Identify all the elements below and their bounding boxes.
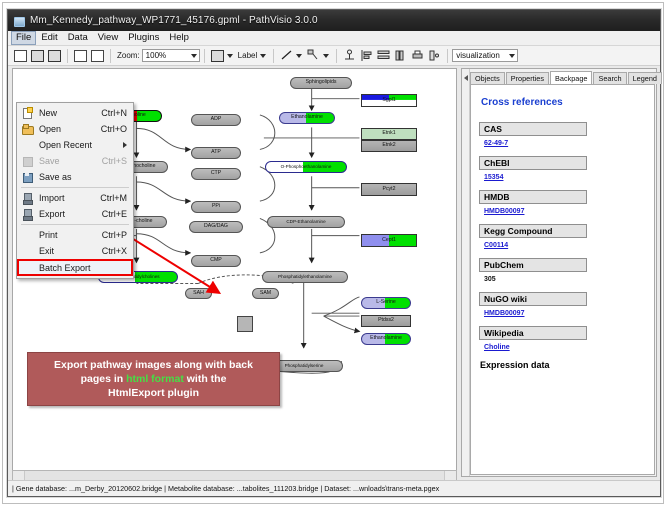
scroll-right-button[interactable] (444, 471, 456, 480)
menubar[interactable]: File Edit Data View Plugins Help (8, 31, 660, 46)
tab-legend[interactable]: Legend (628, 72, 662, 84)
callout-line-2-before: pages in (81, 373, 124, 385)
node-sam[interactable]: SAM (252, 288, 279, 299)
pathvisio-application-window: Mm_Kennedy_pathway_WP1771_45176.gpml - P… (7, 9, 661, 497)
callout-line-3: HtmlExport plugin (108, 387, 199, 399)
visualization-combobox[interactable]: visualization (452, 49, 518, 62)
gene-etnk2[interactable]: Etnk2 (361, 140, 417, 152)
xref-label-kegg: Kegg Compound (479, 224, 587, 238)
new-document-icon (21, 107, 33, 119)
window-titlebar: Mm_Kennedy_pathway_WP1771_45176.gpml - P… (8, 10, 660, 32)
datanode-icon[interactable] (211, 49, 224, 62)
node-ctp[interactable]: CTP (191, 168, 241, 180)
scroll-thumb[interactable] (25, 471, 444, 480)
menu-item-open-label: Open (39, 124, 61, 134)
visualization-value: visualization (456, 51, 500, 60)
menu-item-exit-label: Exit (39, 246, 54, 256)
node-cdp-ethanolamine[interactable]: CDP-Ethanolamine (267, 216, 345, 228)
save-file-icon[interactable] (48, 49, 61, 62)
print-icon[interactable] (411, 49, 424, 62)
menu-item-export[interactable]: Export Ctrl+E (17, 206, 133, 222)
toolbar-separator-5 (336, 49, 337, 63)
node-cmp[interactable]: CMP (191, 255, 241, 267)
node-l-serine[interactable]: L-Serine (361, 297, 411, 309)
gene-etnk1[interactable]: Etnk1 (361, 128, 417, 140)
menu-item-print[interactable]: Print Ctrl+P (17, 227, 133, 243)
toolbar[interactable]: Zoom: 100% Label (8, 46, 660, 66)
node-o-phosphoethanolamine[interactable]: O-Phosphoethanolamine (265, 161, 347, 173)
menu-item-batch-export[interactable]: Batch Export (17, 259, 133, 276)
toolbar-separator-1 (67, 49, 68, 63)
menu-item-export-accel: Ctrl+E (102, 209, 127, 219)
toolbar-separator-3 (204, 49, 205, 63)
menu-item-open[interactable]: Open Ctrl+O (17, 121, 133, 137)
undo-icon[interactable] (74, 49, 87, 62)
callout-line-1: Export pathway images along with back (54, 359, 253, 371)
chevron-down-icon (191, 54, 197, 58)
menu-item-open-recent-label: Open Recent (39, 140, 92, 150)
menu-view[interactable]: View (93, 31, 123, 45)
menu-item-export-label: Export (39, 209, 65, 219)
menu-item-import-accel: Ctrl+M (100, 193, 127, 203)
xref-cas: CAS 62-49-7 (479, 122, 646, 147)
pathway-anchor-block (237, 316, 253, 332)
node-sphingolipids[interactable]: Sphingolipids (290, 77, 352, 89)
node-dag[interactable]: DAG/DAG (189, 221, 243, 233)
menu-help[interactable]: Help (164, 31, 194, 45)
menu-item-new-label: New (39, 108, 57, 118)
anchor-icon[interactable] (343, 49, 356, 62)
line-dropdown-icon[interactable] (296, 54, 302, 58)
zoom-label: Zoom: (117, 51, 140, 60)
node-adp[interactable]: ADP (191, 114, 241, 126)
xref-nugo: NuGO wiki HMDB00097 (479, 292, 646, 317)
import-icon (21, 192, 33, 204)
menu-item-new[interactable]: New Ctrl+N (17, 105, 133, 121)
scroll-left-button[interactable] (13, 471, 25, 480)
interaction-dropdown-icon[interactable] (323, 54, 329, 58)
menu-item-new-accel: Ctrl+N (101, 108, 127, 118)
open-folder-icon (21, 123, 33, 135)
callout-line-2-highlight: html format (126, 373, 184, 385)
menu-item-exit-accel: Ctrl+X (102, 246, 127, 256)
tab-objects[interactable]: Objects (470, 72, 505, 84)
interaction-icon[interactable] (307, 49, 320, 62)
sidebar-panel: Objects Properties Backpage Search Legen… (461, 68, 657, 477)
chevron-down-icon (509, 54, 515, 58)
node-atp[interactable]: ATP (191, 147, 241, 159)
zoom-combobox[interactable]: 100% (142, 49, 200, 62)
sidebar-collapse-handle[interactable] (462, 69, 470, 476)
node-ppi[interactable]: PPi (191, 201, 241, 213)
new-file-icon[interactable] (14, 49, 27, 62)
xref-label-hmdb: HMDB (479, 190, 587, 204)
layer-icon[interactable] (428, 49, 441, 62)
save-as-icon (21, 171, 33, 183)
sidebar-tabs[interactable]: Objects Properties Backpage Search Legen… (470, 71, 655, 84)
zoom-value: 100% (146, 51, 166, 60)
window-title: Mm_Kennedy_pathway_WP1771_45176.gpml - P… (30, 15, 318, 26)
submenu-arrow-icon (123, 142, 127, 148)
line-icon[interactable] (280, 49, 293, 62)
main-content: Sphingolipids Choline ADP Ethanolamine A… (8, 66, 660, 480)
gene-ptdss2[interactable]: Ptdss2 (361, 315, 411, 327)
status-text: | Gene database: ...m_Derby_20120602.bri… (8, 484, 439, 493)
toolbar-separator-2 (110, 49, 111, 63)
menu-item-print-accel: Ctrl+P (102, 230, 127, 240)
export-icon (21, 208, 33, 220)
menu-item-save-as[interactable]: Save as (17, 169, 133, 185)
open-file-icon[interactable] (31, 49, 44, 62)
statusbar: | Gene database: ...m_Derby_20120602.bri… (8, 480, 660, 496)
backpage-content: Cross references CAS 62-49-7 ChEBI 15354… (470, 84, 655, 475)
xref-value-pubchem: 305 (484, 276, 646, 283)
xref-wikipedia: Wikipedia Choline (479, 326, 646, 351)
node-phosphatidylethanolamine[interactable]: Phosphatidylethanolamine (262, 271, 348, 283)
pathvisio-app-icon (13, 15, 25, 27)
xref-value-kegg[interactable]: C00114 (484, 242, 646, 249)
callout-line-2-after: with the (187, 373, 227, 385)
xref-value-hmdb[interactable]: HMDB00097 (484, 208, 646, 215)
node-ethanolamine-bottom[interactable]: Ethanolamine (361, 333, 411, 345)
xref-value-wikipedia[interactable]: Choline (484, 344, 646, 351)
node-sah[interactable]: SAH (185, 288, 212, 299)
xref-label-cas: CAS (479, 122, 587, 136)
cross-references-title: Cross references (481, 97, 646, 108)
save-disk-icon (21, 155, 33, 167)
node-ethanolamine-top[interactable]: Ethanolamine (279, 112, 335, 124)
gene-pcyt2[interactable]: Pcyt2 (361, 183, 417, 196)
menu-item-save: Save Ctrl+S (17, 153, 133, 169)
menu-separator-1 (21, 187, 129, 188)
label-tool-label: Label (238, 51, 258, 60)
menu-item-batch-export-label: Batch Export (39, 263, 91, 273)
menu-file[interactable]: File (11, 31, 36, 45)
xref-label-pubchem: PubChem (479, 258, 587, 272)
menu-item-print-label: Print (39, 230, 58, 240)
gene-sgpl1[interactable]: Sgpl1 (361, 94, 417, 107)
xref-value-cas[interactable]: 62-49-7 (484, 140, 646, 147)
expression-data-title: Expression data (480, 360, 646, 370)
screenshot-root: Mm_Kennedy_pathway_WP1771_45176.gpml - P… (0, 0, 670, 509)
xref-hmdb: HMDB HMDB00097 (479, 190, 646, 215)
menu-item-save-label: Save (39, 156, 60, 166)
stack-icon[interactable] (394, 49, 407, 62)
file-menu-dropdown[interactable]: New Ctrl+N Open Ctrl+O Open Recent Save … (16, 102, 134, 279)
tab-backpage[interactable]: Backpage (550, 71, 592, 84)
align-icon[interactable] (360, 49, 373, 62)
xref-pubchem: PubChem 305 (479, 258, 646, 283)
menu-separator-2 (21, 224, 129, 225)
menu-item-exit[interactable]: Exit Ctrl+X (17, 243, 133, 259)
toolbar-separator-6 (447, 49, 448, 63)
menu-plugins[interactable]: Plugins (123, 31, 164, 45)
xref-value-chebi[interactable]: 15354 (484, 174, 646, 181)
menu-data[interactable]: Data (63, 31, 93, 45)
tab-properties[interactable]: Properties (506, 72, 549, 84)
menu-edit[interactable]: Edit (36, 31, 62, 45)
toolbar-separator-4 (273, 49, 274, 63)
xref-label-nugo: NuGO wiki (479, 292, 587, 306)
xref-label-wikipedia: Wikipedia (479, 326, 587, 340)
distribute-icon[interactable] (377, 49, 390, 62)
xref-value-nugo[interactable]: HMDB00097 (484, 310, 646, 317)
menu-item-save-accel: Ctrl+S (102, 156, 127, 166)
redo-icon[interactable] (91, 49, 104, 62)
tab-search[interactable]: Search (593, 72, 626, 84)
menu-item-save-as-label: Save as (39, 172, 72, 182)
menu-item-open-recent[interactable]: Open Recent (17, 137, 133, 153)
datanode-dropdown-icon[interactable] (227, 54, 233, 58)
xref-kegg: Kegg Compound C00114 (479, 224, 646, 249)
label-dropdown-icon[interactable] (260, 54, 266, 58)
menu-item-open-accel: Ctrl+O (101, 124, 127, 134)
gene-cept1[interactable]: Cept1 (361, 234, 417, 247)
menu-item-import[interactable]: Import Ctrl+M (17, 190, 133, 206)
xref-label-chebi: ChEBI (479, 156, 587, 170)
annotation-callout: Export pathway images along with back pa… (27, 352, 280, 406)
xref-chebi: ChEBI 15354 (479, 156, 646, 181)
menu-item-import-label: Import (39, 193, 65, 203)
